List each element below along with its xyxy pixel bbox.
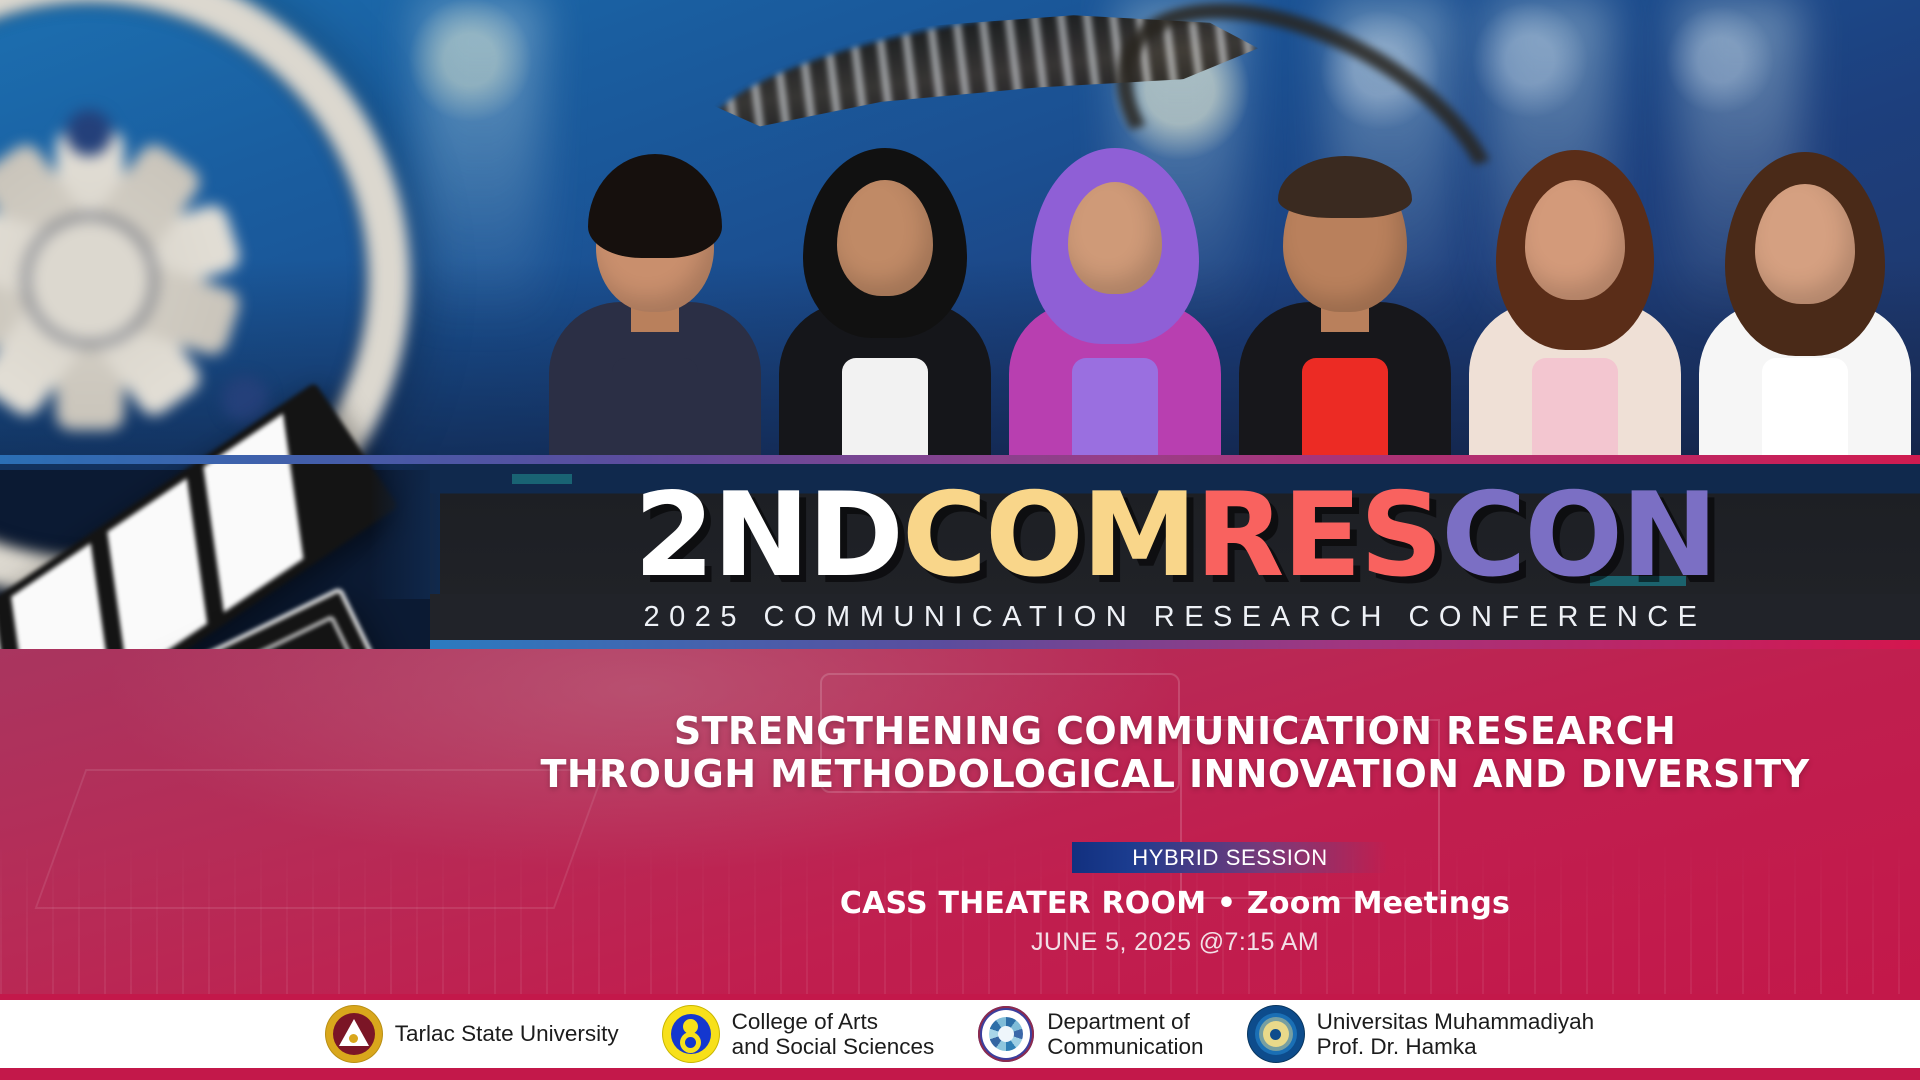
session-type-badge: HYBRID SESSION <box>1072 842 1388 873</box>
tsu-seal-icon <box>326 1006 382 1062</box>
datetime-text: JUNE 5, 2025 @7:15 AM <box>430 928 1920 957</box>
session-type-label: HYBRID SESSION <box>1132 845 1327 871</box>
venue-text: CASS THEATER ROOM • Zoom Meetings <box>430 886 1920 921</box>
title-part-res: RES <box>1195 478 1441 594</box>
organization-label: Tarlac State University <box>395 1021 619 1046</box>
footer-organizations: Tarlac State University College of Arts … <box>0 1000 1920 1068</box>
speaker-portrait <box>770 140 1000 470</box>
organization-label: Universitas Muhammadiyah Prof. Dr. Hamka <box>1317 1009 1595 1059</box>
speaker-portrait <box>540 140 770 470</box>
department-of-communication-seal-icon <box>978 1006 1034 1062</box>
speaker-portrait <box>1460 140 1690 470</box>
speaker-portrait <box>1230 140 1460 470</box>
title-band-top-accent <box>0 455 1920 464</box>
organization-department-of-communication: Department of Communication <box>978 1006 1203 1062</box>
footer-bottom-rule <box>0 1068 1920 1080</box>
theme-line-2: THROUGH METHODOLOGICAL INNOVATION AND DI… <box>430 753 1920 796</box>
conference-poster: SCENE CUT TAKE ROLL <box>0 0 1920 1080</box>
speaker-portrait <box>1690 140 1920 470</box>
organization-tarlac-state-university: Tarlac State University <box>326 1006 619 1062</box>
page-title: 2ND COMRESCON <box>430 476 1920 596</box>
title-part-con: CON <box>1441 478 1716 594</box>
organization-college-of-arts-and-social-sciences: College of Arts and Social Sciences <box>663 1006 935 1062</box>
title-part-2nd: 2ND <box>634 478 902 594</box>
speaker-portrait-row <box>540 140 1920 470</box>
speaker-portrait <box>1000 140 1230 470</box>
cass-seal-icon <box>663 1006 719 1062</box>
conference-subtitle: 2025 COMMUNICATION RESEARCH CONFERENCE <box>643 601 1706 634</box>
title-band-bottom-accent <box>430 640 1920 649</box>
conference-theme: STRENGTHENING COMMUNICATION RESEARCH THR… <box>430 710 1920 797</box>
organization-label: College of Arts and Social Sciences <box>732 1009 935 1059</box>
uhamka-seal-icon <box>1248 1006 1304 1062</box>
theme-line-1: STRENGTHENING COMMUNICATION RESEARCH <box>430 710 1920 753</box>
organization-universitas-muhammadiyah-prof-dr-hamka: Universitas Muhammadiyah Prof. Dr. Hamka <box>1248 1006 1595 1062</box>
title-part-com: COM <box>902 478 1195 594</box>
organization-label: Department of Communication <box>1047 1009 1203 1059</box>
spotlight-cone <box>420 0 540 330</box>
conference-subtitle-band: 2025 COMMUNICATION RESEARCH CONFERENCE <box>430 594 1920 640</box>
